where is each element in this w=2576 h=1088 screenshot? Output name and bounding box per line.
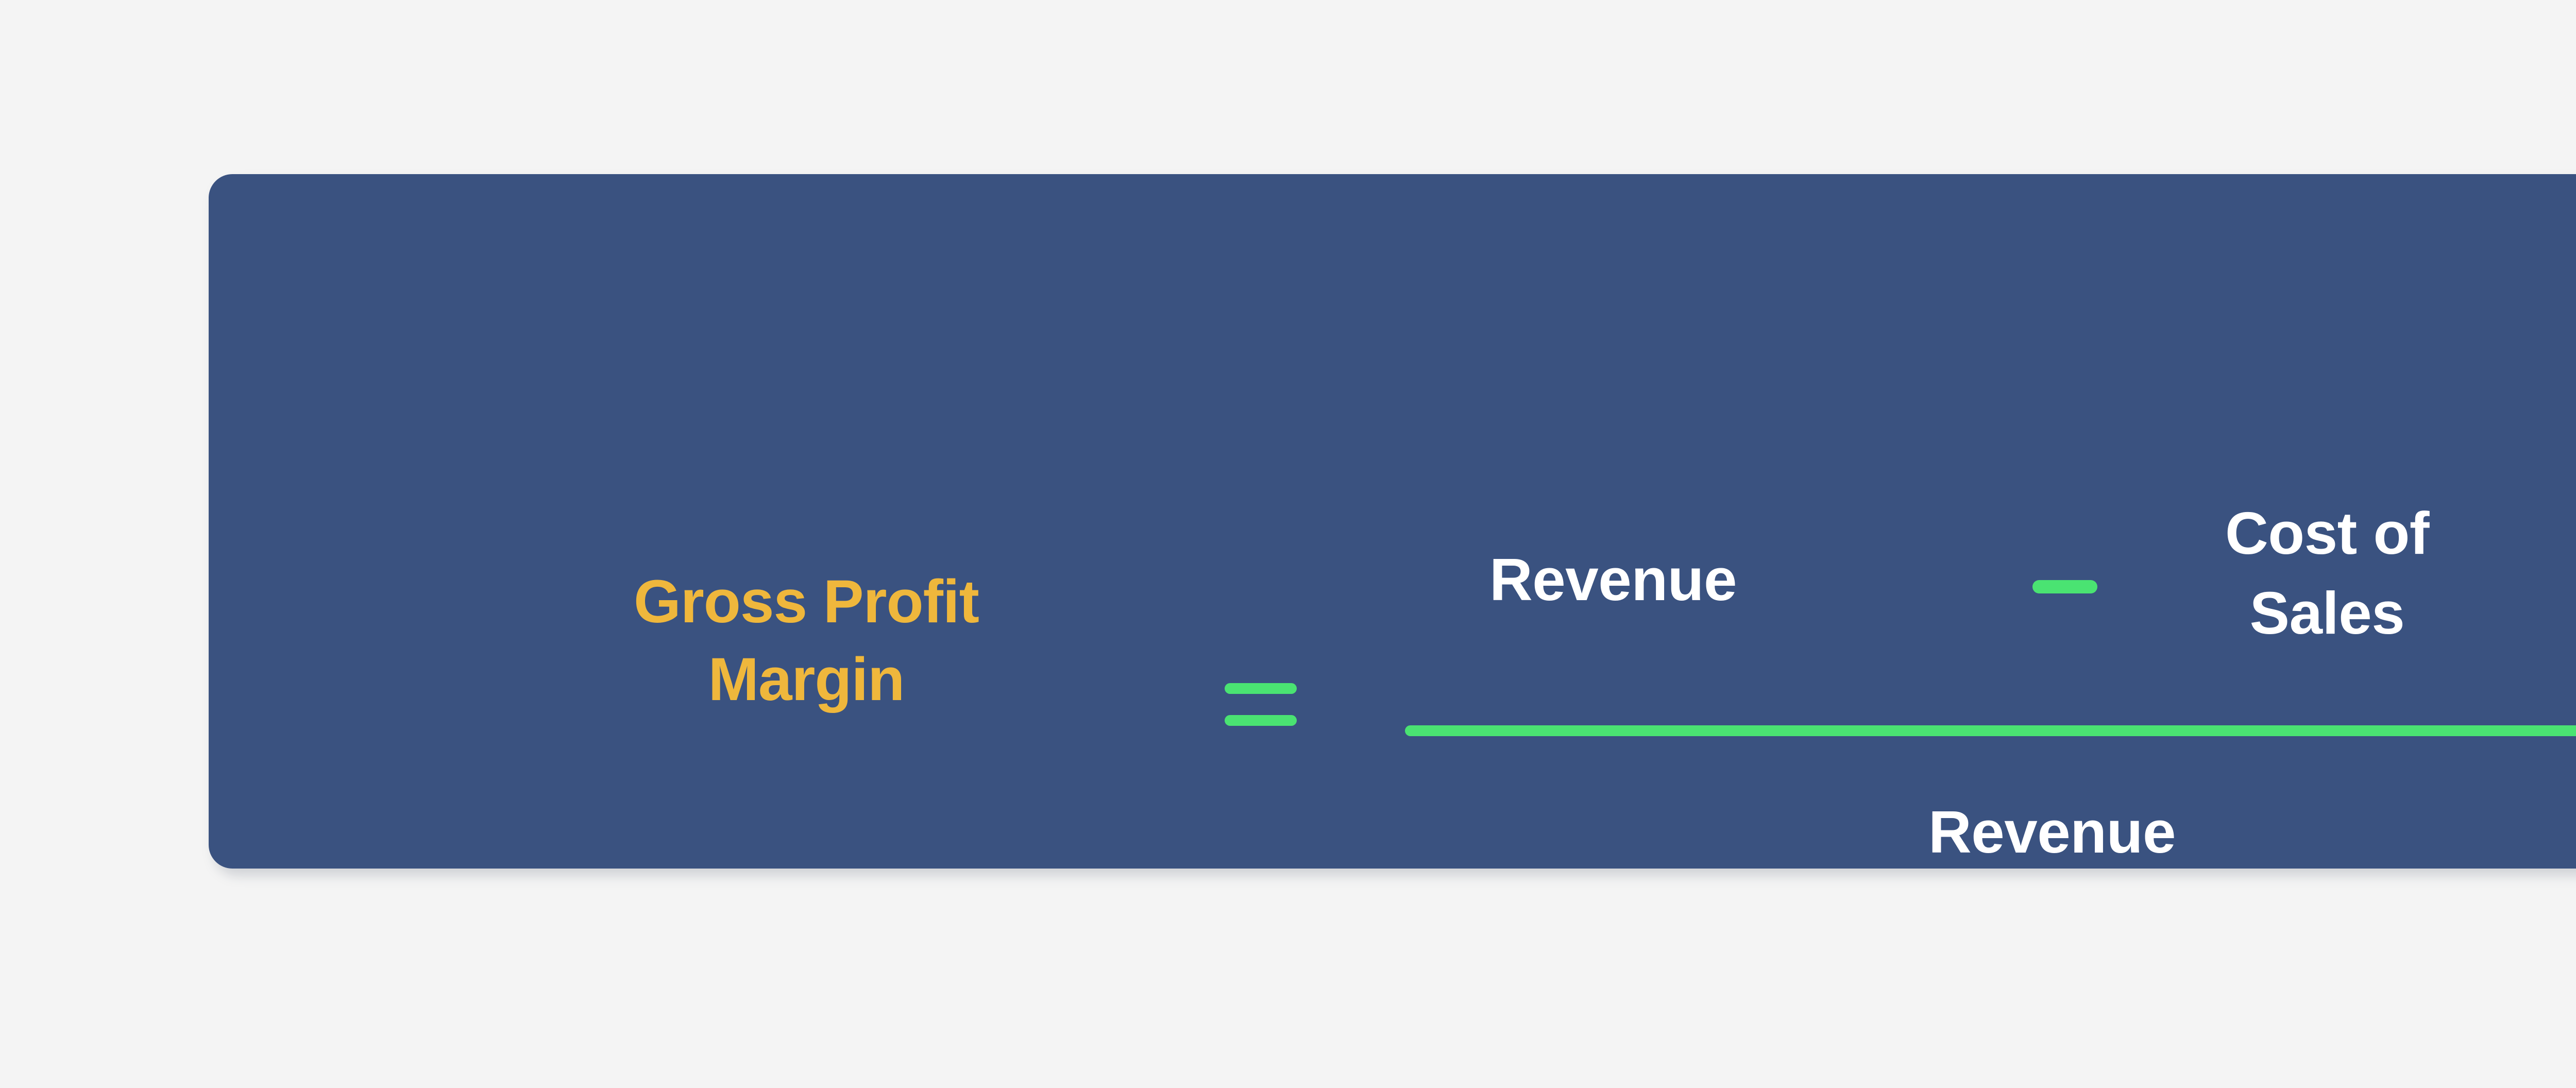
- gross-profit-margin-label: Gross Profit Margin: [580, 563, 1033, 719]
- fraction-denominator: Revenue: [1405, 797, 2576, 866]
- fraction: Revenue Cost of Sales Revenue: [1405, 442, 2576, 895]
- equals-bar-top: [1225, 683, 1297, 694]
- fraction-numerator: Revenue Cost of Sales: [1405, 442, 2576, 720]
- lhs-label-line-1: Gross Profit: [580, 563, 1033, 641]
- equals-bar-bottom: [1225, 715, 1297, 726]
- formula-card: Gross Profit Margin Revenue Cost of Sale…: [209, 174, 2576, 869]
- minus-sign-icon: [2032, 580, 2097, 593]
- numerator-cost-of-sales-term: Cost of Sales: [2167, 494, 2487, 654]
- lhs-label-line-2: Margin: [580, 641, 1033, 719]
- cost-of-sales-line-1: Cost of: [2167, 494, 2487, 573]
- numerator-revenue-term: Revenue: [1489, 545, 1737, 614]
- cost-of-sales-line-2: Sales: [2167, 573, 2487, 653]
- equals-sign-icon: [1225, 683, 1297, 726]
- fraction-bar: [1405, 725, 2576, 736]
